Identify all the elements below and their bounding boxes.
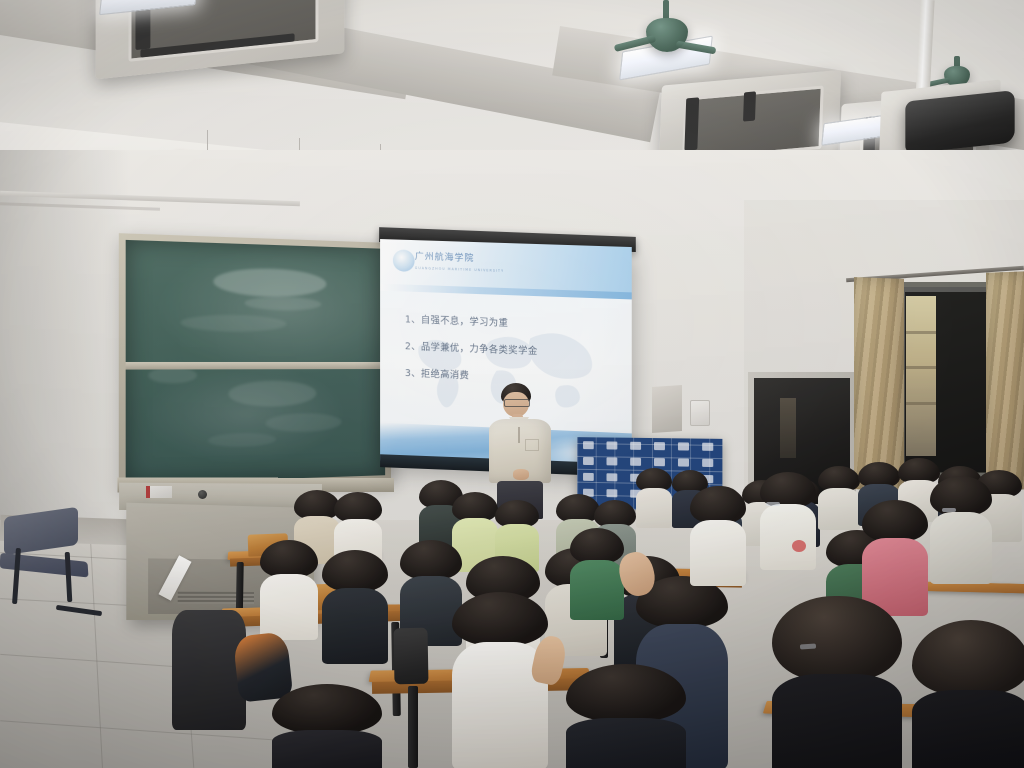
student-row2-b bbox=[322, 550, 388, 660]
blackboard-divider-rail bbox=[126, 362, 385, 370]
shirt-graphic bbox=[792, 540, 806, 552]
presenter-hands bbox=[513, 469, 529, 480]
glasses-icon bbox=[942, 508, 956, 512]
university-name-cn: 广州航海学院 bbox=[415, 249, 475, 264]
lectern-sticker bbox=[146, 486, 172, 498]
doorway-interior-hint bbox=[780, 398, 796, 458]
student-row3-d bbox=[760, 472, 816, 566]
blackboard bbox=[119, 233, 391, 491]
student-row2-g bbox=[570, 528, 624, 614]
student-back-f bbox=[818, 466, 860, 528]
university-logo-icon bbox=[392, 249, 414, 272]
student-row3-c bbox=[690, 486, 746, 582]
curtain-right[interactable] bbox=[986, 271, 1024, 490]
wall-switch-plate[interactable] bbox=[690, 400, 710, 426]
window-exterior-view bbox=[906, 296, 936, 456]
desk-leg bbox=[408, 686, 418, 768]
student-foreground-c bbox=[566, 664, 686, 768]
student-row2-a bbox=[260, 540, 318, 636]
student-foreground-b bbox=[912, 620, 1024, 768]
classroom-photo: 广州航海学院 GUANGZHOU MARITIME UNIVERSITY 1、自… bbox=[0, 0, 1024, 768]
student-row3-f bbox=[930, 476, 992, 580]
curtain-left[interactable] bbox=[854, 277, 904, 491]
presenter bbox=[489, 383, 551, 517]
slide-bullet-3: 3、拒绝高消费 bbox=[405, 365, 469, 382]
glasses-icon bbox=[766, 502, 780, 506]
student-back-a bbox=[636, 468, 672, 526]
wall-shadow bbox=[0, 150, 130, 570]
presenter-shirt-placket bbox=[518, 427, 520, 443]
wall-control-panel bbox=[652, 385, 682, 433]
seat-armrest bbox=[394, 628, 429, 685]
presenter-shirt-pocket bbox=[525, 439, 539, 451]
glasses-icon bbox=[504, 399, 530, 407]
student-foreground-d bbox=[272, 684, 382, 768]
student-foreground-a bbox=[772, 596, 902, 768]
ceiling-fan bbox=[636, 0, 696, 64]
lectern-knob[interactable] bbox=[198, 490, 207, 499]
